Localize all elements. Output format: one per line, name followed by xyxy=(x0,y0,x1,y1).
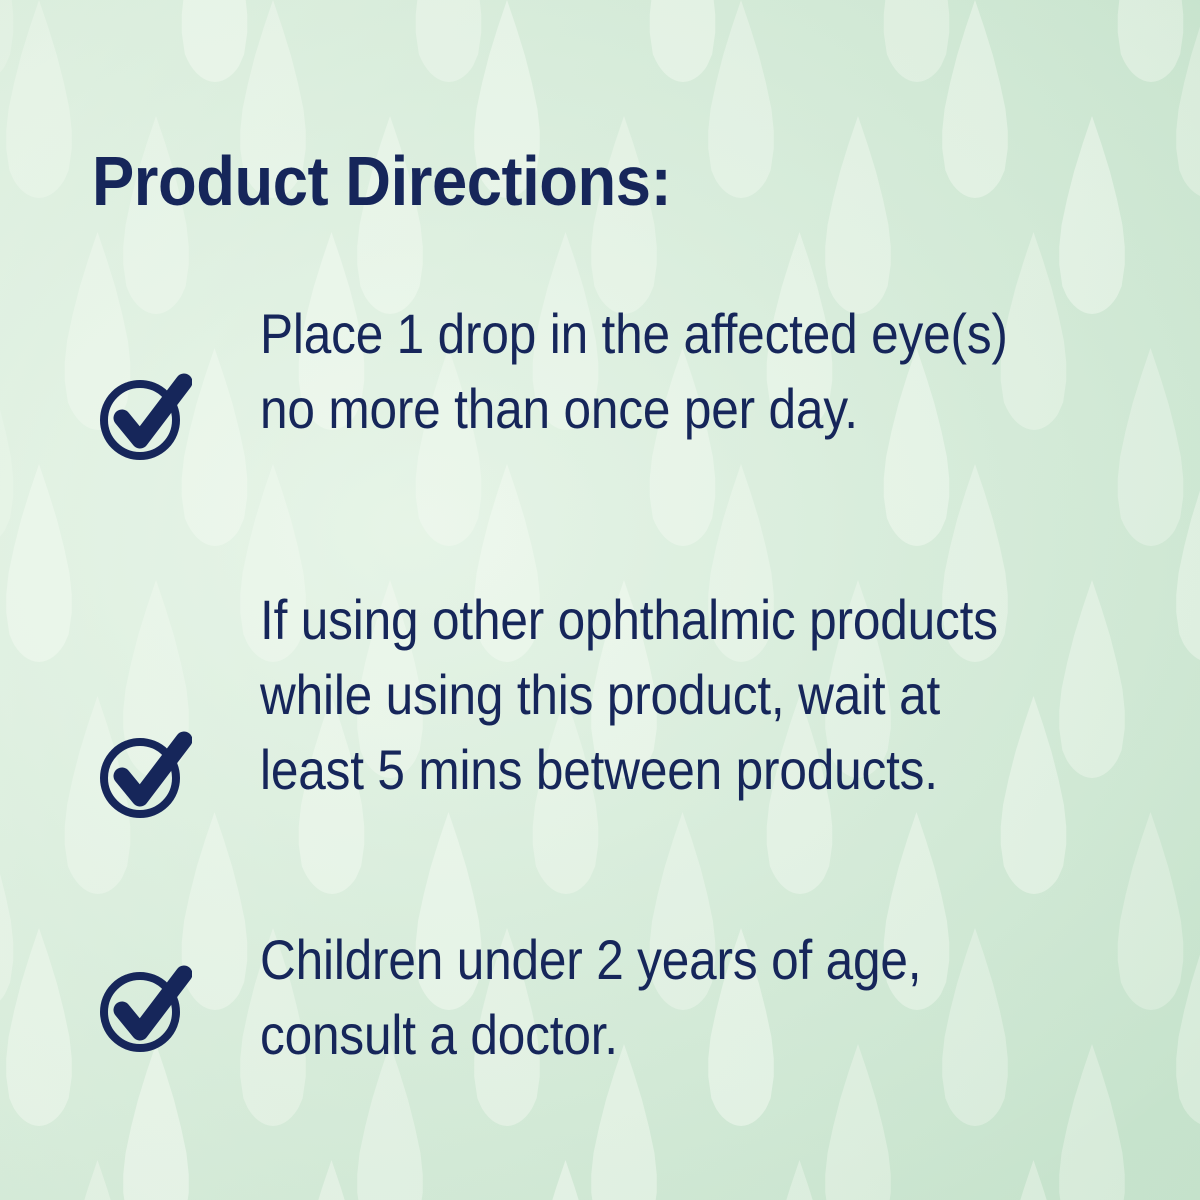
product-directions-card: Product Directions: Place 1 drop in the … xyxy=(0,0,1200,1200)
content-layer: Product Directions: Place 1 drop in the … xyxy=(0,0,1200,1200)
direction-item: If using other ophthalmic products while… xyxy=(96,582,1106,822)
direction-item-text: If using other ophthalmic products while… xyxy=(260,582,1009,807)
direction-item: Place 1 drop in the affected eye(s) no m… xyxy=(96,296,1106,464)
check-circle-icon xyxy=(96,368,192,464)
direction-item: Children under 2 years of age, consult a… xyxy=(96,922,1106,1072)
page-title: Product Directions: xyxy=(92,142,671,220)
check-circle-icon xyxy=(96,960,192,1056)
check-circle-icon xyxy=(96,726,192,822)
direction-item-text: Children under 2 years of age, consult a… xyxy=(260,922,1009,1072)
direction-item-text: Place 1 drop in the affected eye(s) no m… xyxy=(260,296,1009,446)
